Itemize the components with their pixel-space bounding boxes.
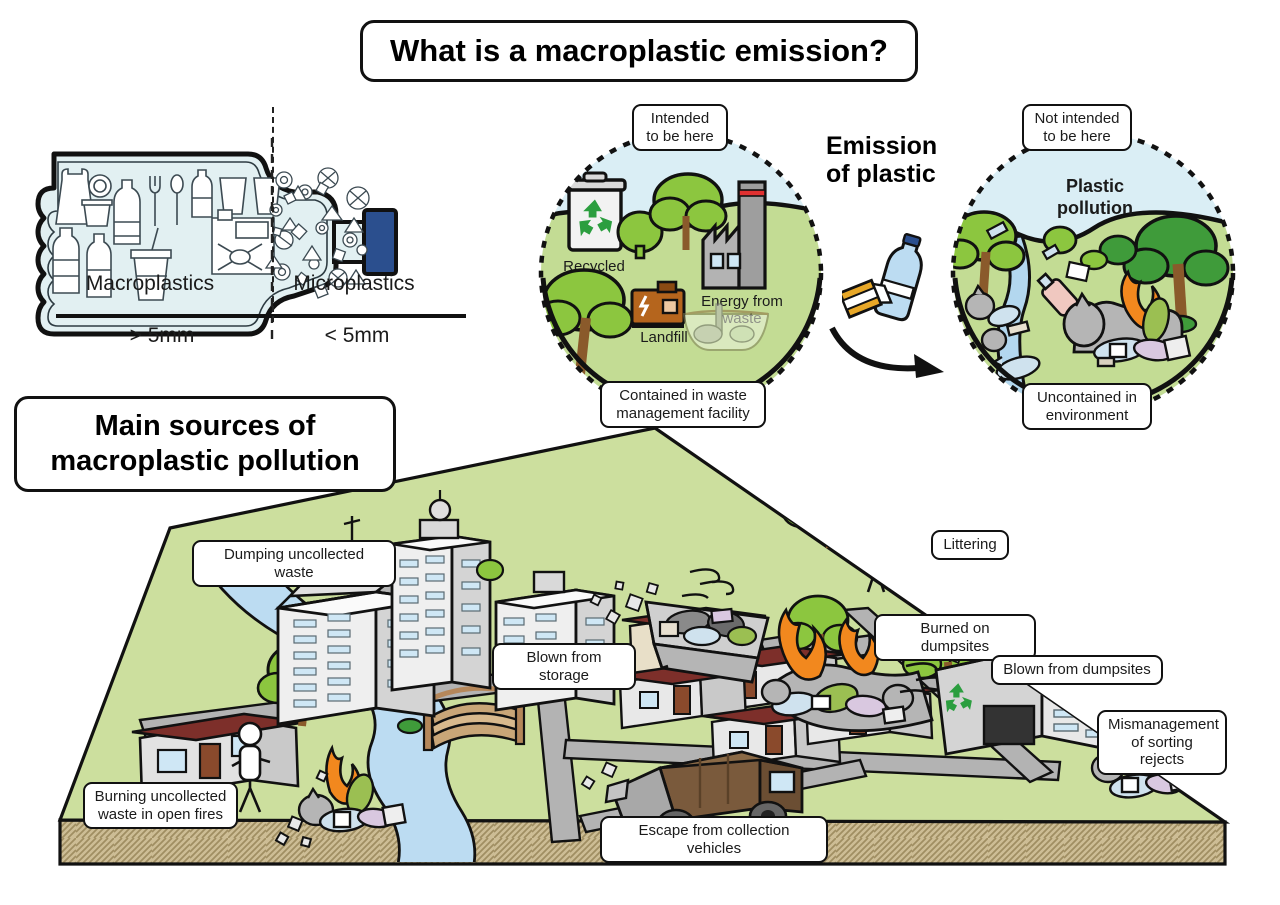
legend-divider bbox=[272, 107, 274, 322]
contained-in-waste-facility-label: Contained in waste management facility bbox=[600, 381, 766, 428]
flying-litter-icons bbox=[842, 226, 962, 336]
bottle-size-legend: Macroplastics Microplastics > 5mm < 5mm bbox=[22, 272, 477, 362]
emission-of-plastic-heading: Emission of plastic bbox=[826, 132, 954, 188]
infographic-root: What is a macroplastic emission? bbox=[0, 0, 1280, 905]
recycling-bin-icon bbox=[565, 173, 625, 250]
callout-burning-uncollected-waste-in-open-fires: Burning uncollected waste in open fires bbox=[83, 782, 238, 829]
landfill-machine bbox=[632, 282, 684, 328]
microplastics-size: < 5mm bbox=[257, 324, 457, 348]
callout-mismanagement-of-sorting-rejects: Mismanagement of sorting rejects bbox=[1097, 710, 1227, 775]
uncontained-pollution-circle bbox=[948, 128, 1238, 418]
tree-right-edge bbox=[1163, 586, 1220, 644]
flying-bottle-icon bbox=[874, 231, 930, 321]
energy-from-waste-label-1: Energy from bbox=[701, 293, 783, 310]
callout-escape-from-collection-vehicles: Escape from collection vehicles bbox=[600, 816, 828, 863]
not-intended-to-be-here-label: Not intended to be here bbox=[1022, 104, 1132, 151]
callout-blown-from-dumpsites: Blown from dumpsites bbox=[991, 655, 1163, 685]
macroplastics-size: > 5mm bbox=[62, 324, 262, 348]
legend-rule bbox=[56, 314, 466, 318]
macroplastics-label: Macroplastics bbox=[50, 272, 250, 296]
callout-blown-from-storage: Blown from storage bbox=[492, 643, 636, 690]
uncontained-in-environment-label: Uncontained in environment bbox=[1022, 383, 1152, 430]
microplastics-label: Microplastics bbox=[254, 272, 454, 296]
sources-title: Main sources of macroplastic pollution bbox=[14, 396, 396, 492]
page-title: What is a macroplastic emission? bbox=[360, 20, 918, 82]
callout-dumping-uncollected-waste: Dumping uncollected waste bbox=[192, 540, 396, 587]
intended-to-be-here-label: Intended to be here bbox=[632, 104, 728, 151]
landfill-label: Landfill bbox=[640, 329, 688, 346]
contained-waste-circle: Recycled bbox=[536, 128, 826, 418]
plastic-pollution-headline: Plastic pollution bbox=[1040, 176, 1150, 219]
callout-littering: Littering bbox=[931, 530, 1009, 560]
